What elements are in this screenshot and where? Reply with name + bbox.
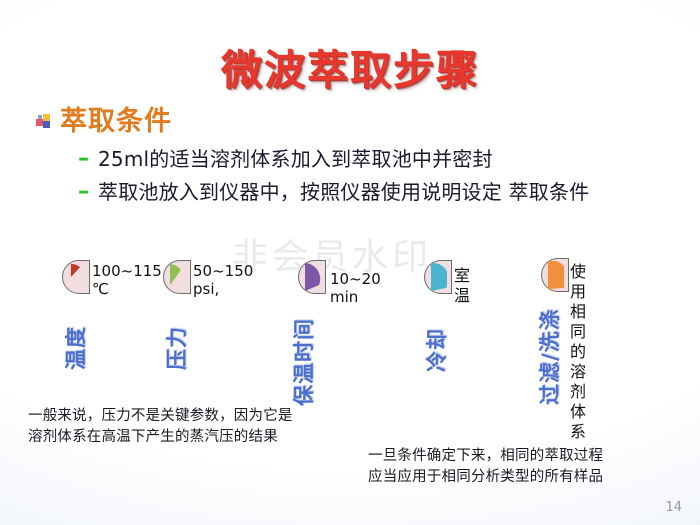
pie-wedge-icon — [431, 263, 447, 291]
step-value: 室温 — [454, 266, 470, 306]
half-disc-pie-icon — [163, 260, 191, 294]
half-disc-pie-icon — [298, 260, 326, 294]
slide-number: 14 — [665, 500, 682, 515]
step-label-hold-time: 保温时间 — [288, 318, 318, 406]
step-label-temperature: 温度 — [60, 326, 90, 370]
pie-wedge-icon — [305, 263, 321, 291]
footnote-consistency: 一旦条件确定下来，相同的萃取过程 应当应用于相同分析类型的所有样品 — [368, 446, 698, 488]
step-value: 100~115 ℃ — [92, 262, 162, 298]
half-disc-pie-icon — [62, 260, 90, 294]
pie-wedge-icon — [170, 264, 186, 285]
pie-wedge-icon — [71, 264, 85, 277]
half-disc-pie-icon — [541, 258, 569, 292]
half-disc-pie-icon — [424, 260, 452, 294]
step-value: 使用相 同的溶 剂体系 — [570, 262, 586, 442]
step-label-pressure: 压力 — [161, 326, 191, 370]
step-label-cooling: 冷却 — [421, 328, 451, 372]
step-label-filter-wash: 过滤/洗涤 — [534, 308, 564, 405]
pie-wedge-icon — [546, 261, 564, 289]
step-value: 10~20 min — [330, 270, 381, 306]
step-value: 50~150 psi, — [193, 262, 253, 298]
slide-canvas: 非会员水印 微波萃取步骤 萃取条件 – 25ml的适当溶剂体系加入到萃取池中并密… — [0, 0, 700, 525]
footnote-pressure: 一般来说，压力不是关键参数，因为它是 溶剂体系在高温下产生的蒸汽压的结果 — [28, 406, 388, 448]
